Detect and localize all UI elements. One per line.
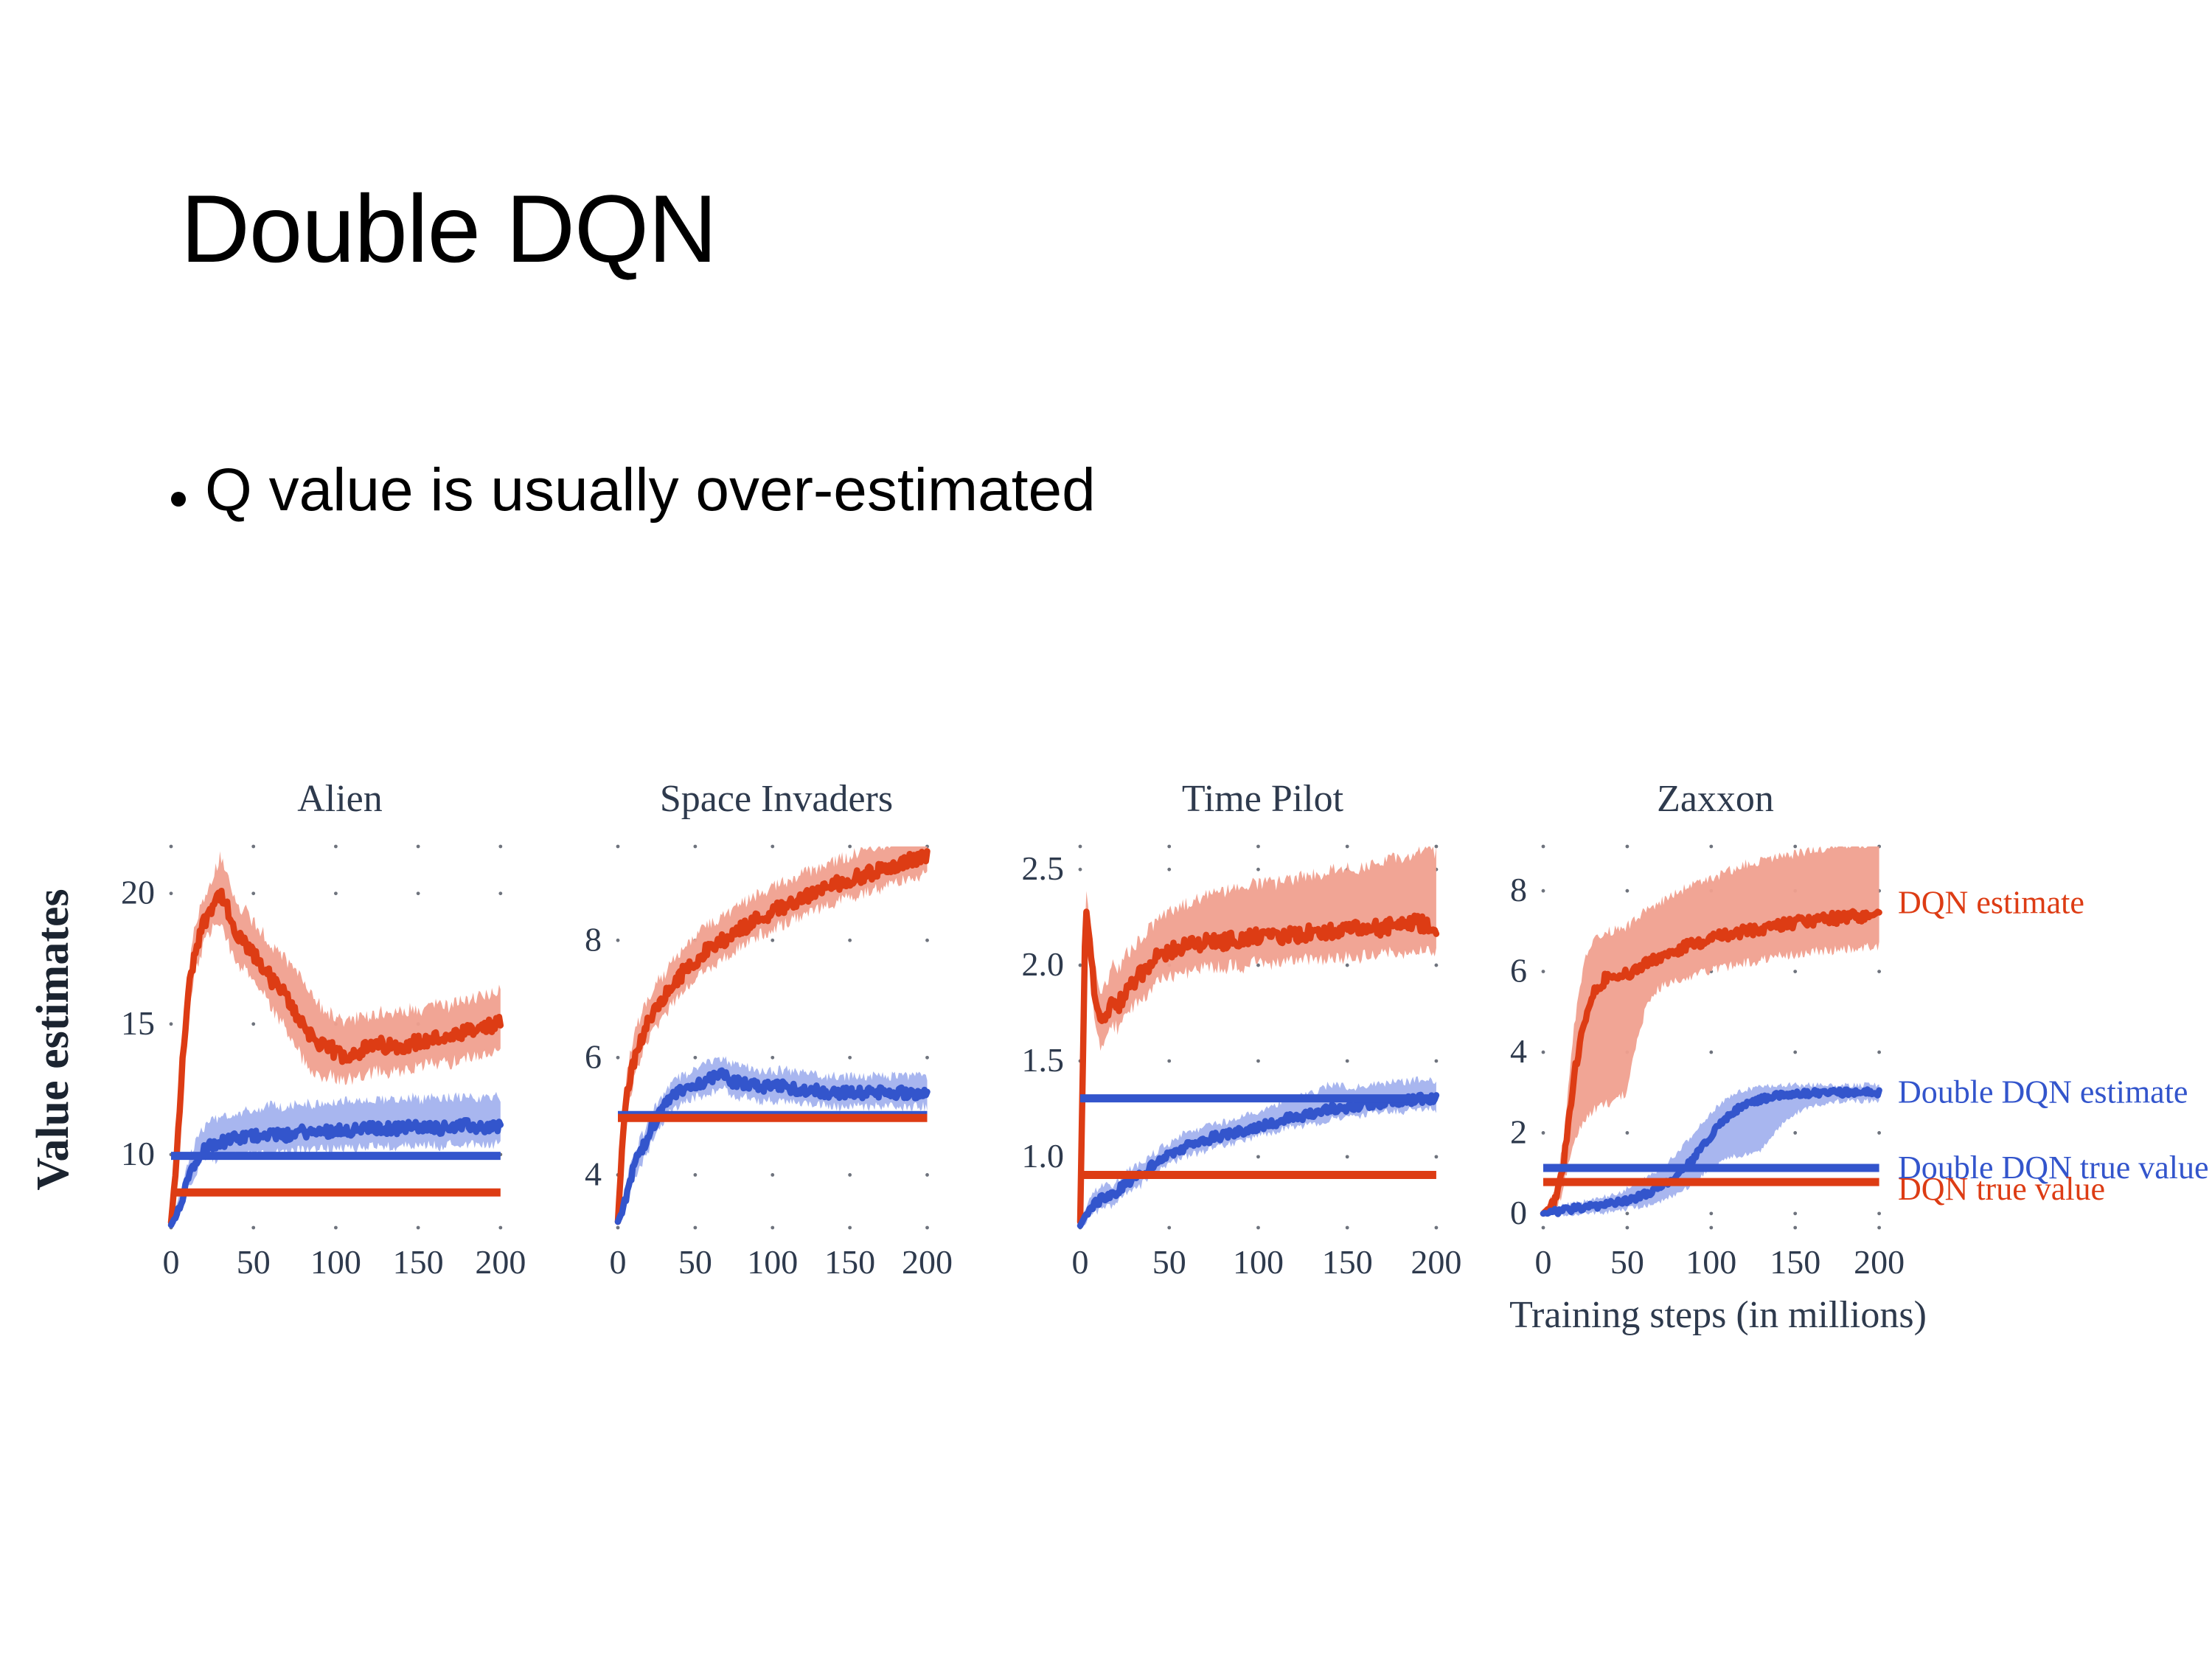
x-tick-label: 200	[475, 1243, 526, 1281]
x-tick-label: 100	[1233, 1243, 1284, 1281]
page-title: Double DQN	[181, 181, 717, 276]
x-tick-label: 0	[610, 1243, 627, 1281]
y-tick-label: 10	[121, 1135, 155, 1172]
chart-panel-alien: Alien101520050100150200	[121, 778, 526, 1281]
chart-panel-space-invaders: Space Invaders468050100150200	[585, 778, 953, 1281]
value-estimates-figure: Alien101520050100150200Space Invaders468…	[0, 752, 2212, 1401]
y-tick-label: 4	[1510, 1032, 1527, 1070]
x-tick-label: 50	[1152, 1243, 1186, 1281]
series-line	[618, 852, 928, 1222]
x-tick-label: 150	[1322, 1243, 1373, 1281]
x-tick-label: 150	[824, 1243, 875, 1281]
x-tick-label: 50	[678, 1243, 712, 1281]
x-tick-label: 150	[393, 1243, 444, 1281]
legend-label: DQN estimate	[1898, 885, 2084, 921]
confidence-band	[618, 846, 928, 1222]
x-tick-label: 200	[1854, 1243, 1905, 1281]
y-tick-label: 8	[1510, 871, 1527, 908]
y-tick-label: 6	[585, 1037, 602, 1075]
x-tick-label: 100	[310, 1243, 361, 1281]
x-tick-label: 100	[747, 1243, 798, 1281]
y-tick-label: 4	[585, 1155, 602, 1192]
panel-title: Space Invaders	[660, 778, 893, 820]
x-tick-label: 200	[902, 1243, 953, 1281]
y-tick-label: 2.0	[1022, 945, 1065, 983]
y-tick-label: 2.5	[1022, 849, 1065, 887]
y-axis-label: Value estimates	[28, 888, 78, 1190]
panel-title: Alien	[297, 778, 383, 820]
x-tick-label: 0	[1072, 1243, 1089, 1281]
chart-panel-time-pilot: Time Pilot1.01.52.02.5050100150200	[1022, 778, 1462, 1281]
chart-panel-zaxxon: Zaxxon02468050100150200DQN estimateDoubl…	[1510, 778, 2209, 1281]
x-tick-label: 150	[1770, 1243, 1820, 1281]
confidence-band	[1080, 846, 1436, 1222]
x-tick-label: 0	[163, 1243, 180, 1281]
x-tick-label: 200	[1411, 1243, 1461, 1281]
legend-label: Double DQN estimate	[1898, 1074, 2188, 1110]
charts-svg: Alien101520050100150200Space Invaders468…	[0, 752, 2212, 1401]
x-tick-label: 100	[1686, 1243, 1736, 1281]
panel-title: Time Pilot	[1182, 778, 1344, 820]
panel-title: Zaxxon	[1657, 778, 1774, 820]
y-tick-label: 0	[1510, 1194, 1527, 1231]
y-tick-label: 8	[585, 920, 602, 958]
y-tick-label: 1.5	[1022, 1041, 1065, 1079]
y-tick-label: 15	[121, 1004, 155, 1042]
x-tick-label: 50	[237, 1243, 271, 1281]
y-tick-label: 1.0	[1022, 1137, 1065, 1175]
x-tick-label: 50	[1610, 1243, 1644, 1281]
y-tick-label: 6	[1510, 952, 1527, 990]
bullet-marker-icon	[171, 492, 186, 507]
y-tick-label: 2	[1510, 1113, 1527, 1150]
x-tick-label: 0	[1535, 1243, 1552, 1281]
y-tick-label: 20	[121, 874, 155, 911]
legend-label: DQN true value	[1898, 1171, 2105, 1207]
bullet-list-item: Q value is usually over-estimated	[171, 457, 1096, 524]
x-axis-label: Training steps (in millions)	[1509, 1294, 1927, 1336]
slide-canvas: Double DQN Q value is usually over-estim…	[0, 0, 2212, 1659]
bullet-text: Q value is usually over-estimated	[205, 457, 1096, 524]
